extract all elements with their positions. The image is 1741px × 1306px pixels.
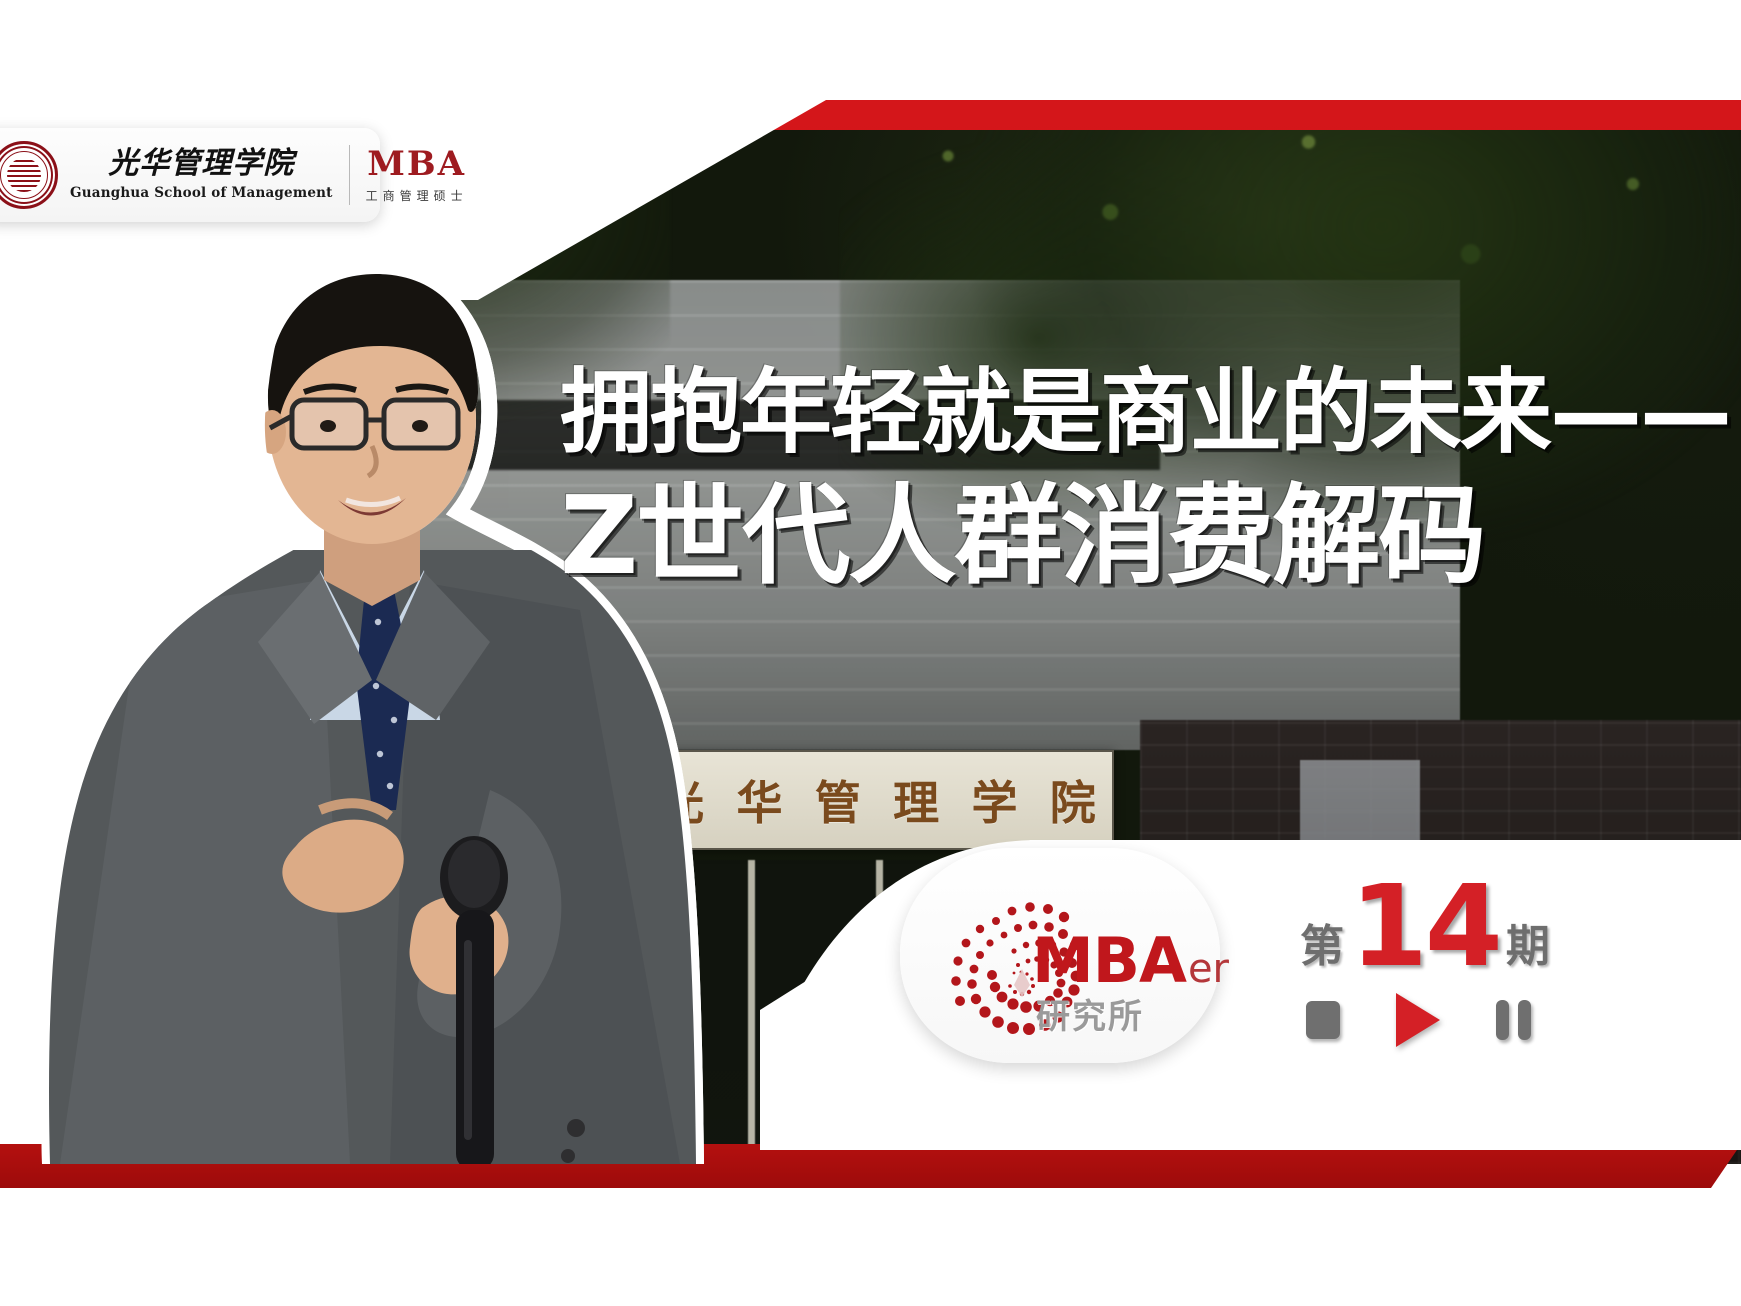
mbaer-subtitle: 研究所: [1036, 989, 1144, 1038]
pause-icon[interactable]: [1496, 1000, 1531, 1040]
mbaer-wordmark: MBA er: [1032, 933, 1229, 989]
mbaer-mark: MBA: [1032, 933, 1186, 989]
program-name-block: MBA 工商管理硕士: [366, 147, 468, 204]
slide-canvas: 光 华 管 理 学 院 光华管理学院 Guanghua School of Ma…: [0, 0, 1741, 1306]
play-icon[interactable]: [1396, 993, 1440, 1047]
issue-value: 14: [1350, 880, 1500, 975]
title-block: 拥抱年轻就是商业的未来—— Z世代人群消费解码: [560, 366, 1741, 592]
title-line-2: Z世代人群消费解码: [560, 482, 1741, 592]
school-name-cn: 光华管理学院: [108, 149, 294, 179]
issue-number: 第 14 期: [1300, 880, 1550, 975]
mbaer-badge-inner: MBA er 研究所: [910, 861, 1210, 1051]
pku-seal-icon: [0, 141, 58, 209]
mbaer-suffix: er: [1188, 950, 1229, 988]
program-name-en: MBA: [367, 147, 466, 181]
issue-suffix: 期: [1506, 925, 1550, 975]
player-controls: [1306, 990, 1606, 1050]
logo-divider: [349, 145, 350, 205]
issue-prefix: 第: [1300, 925, 1344, 975]
school-name-en: Guanghua School of Management: [70, 185, 333, 201]
stop-icon[interactable]: [1306, 1001, 1340, 1039]
school-name-block: 光华管理学院 Guanghua School of Management: [70, 149, 333, 201]
guanghua-logo-card: 光华管理学院 Guanghua School of Management MBA…: [0, 128, 380, 222]
program-name-cn: 工商管理硕士: [366, 187, 468, 204]
mbaer-logo-badge: MBA er 研究所: [900, 848, 1220, 1063]
plaque-char-2: 华: [736, 767, 782, 833]
title-line-1: 拥抱年轻就是商业的未来——: [560, 366, 1741, 460]
